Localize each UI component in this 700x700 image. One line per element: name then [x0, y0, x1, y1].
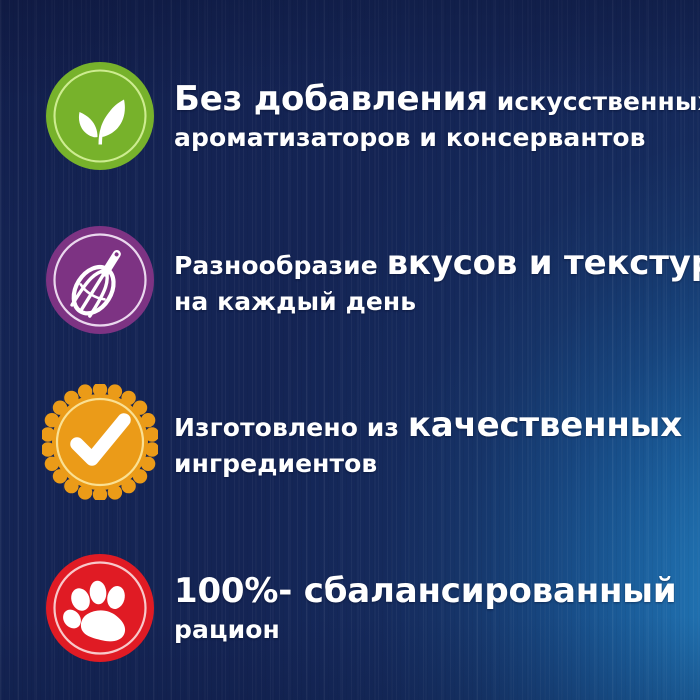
checkmark-badge-icon — [42, 384, 158, 500]
feature-line-1-emphasis: качественных — [408, 405, 682, 445]
feature-line-1: Разнообразие вкусов и текстур — [174, 243, 700, 283]
feature-line-1-emphasis: 100%- сбалансированный — [174, 571, 676, 611]
feature-line-1: Без добавления искусственных — [174, 79, 700, 119]
feature-line-2: рацион — [174, 615, 700, 645]
feature-text-balanced: 100%- сбалансированный рацион — [174, 571, 700, 645]
leaves-icon — [42, 58, 158, 174]
feature-text-quality: Изготовлено из качественных ингредиентов — [174, 405, 700, 479]
feature-line-2: ингредиентов — [174, 449, 700, 479]
whisk-icon — [42, 222, 158, 338]
feature-line-1-lead: Разнообразие — [174, 251, 387, 280]
feature-row-natural: Без добавления искусственных ароматизато… — [0, 58, 700, 174]
feature-line-1: 100%- сбалансированный — [174, 571, 700, 611]
paw-print-icon — [42, 550, 158, 666]
feature-line-1-tail: искусственных — [488, 87, 700, 116]
feature-text-natural: Без добавления искусственных ароматизато… — [174, 79, 700, 153]
feature-list-poster: Без добавления искусственных ароматизато… — [0, 0, 700, 700]
feature-text-variety: Разнообразие вкусов и текстур на каждый … — [174, 243, 700, 317]
feature-line-1-lead: Изготовлено из — [174, 413, 408, 442]
feature-row-balanced: 100%- сбалансированный рацион — [0, 550, 700, 666]
feature-line-1-emphasis: вкусов и текстур — [387, 243, 700, 283]
feature-row-variety: Разнообразие вкусов и текстур на каждый … — [0, 222, 700, 338]
feature-line-2: на каждый день — [174, 287, 700, 317]
feature-line-1: Изготовлено из качественных — [174, 405, 700, 445]
feature-rows: Без добавления искусственных ароматизато… — [0, 0, 700, 700]
feature-line-1-lead: Без добавления — [174, 79, 488, 119]
feature-row-quality: Изготовлено из качественных ингредиентов — [0, 384, 700, 500]
feature-line-2: ароматизаторов и консервантов — [174, 123, 700, 153]
